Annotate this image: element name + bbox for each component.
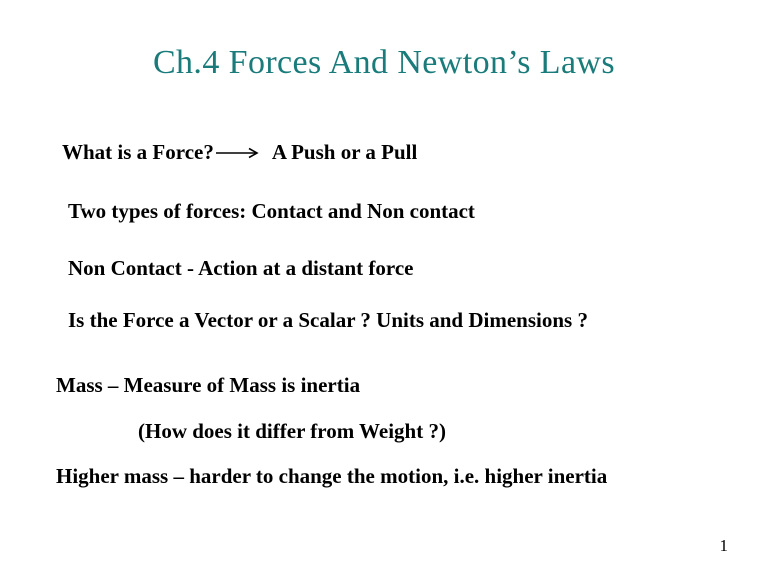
bullet-two-types-of-forces: Two types of forces: Contact and Non con…	[68, 199, 475, 224]
bullet-vector-or-scalar: Is the Force a Vector or a Scalar ? Unit…	[68, 308, 588, 333]
bullet-differ-from-weight: (How does it differ from Weight ?)	[138, 419, 446, 444]
bullet-higher-mass: Higher mass – harder to change the motio…	[56, 464, 607, 489]
page-title: Ch.4 Forces And Newton’s Laws	[0, 44, 768, 82]
push-or-pull-label: A Push or a Pull	[272, 140, 417, 164]
what-is-a-force-label: What is a Force?	[62, 140, 214, 164]
bullet-mass-measure: Mass – Measure of Mass is inertia	[56, 373, 360, 398]
bullet-non-contact: Non Contact - Action at a distant force	[68, 256, 414, 281]
right-arrow-icon	[216, 147, 262, 159]
bullet-what-is-a-force: What is a Force?A Push or a Pull	[62, 140, 417, 165]
page-number: 1	[720, 536, 729, 556]
slide-canvas: Ch.4 Forces And Newton’s Laws What is a …	[0, 0, 768, 576]
